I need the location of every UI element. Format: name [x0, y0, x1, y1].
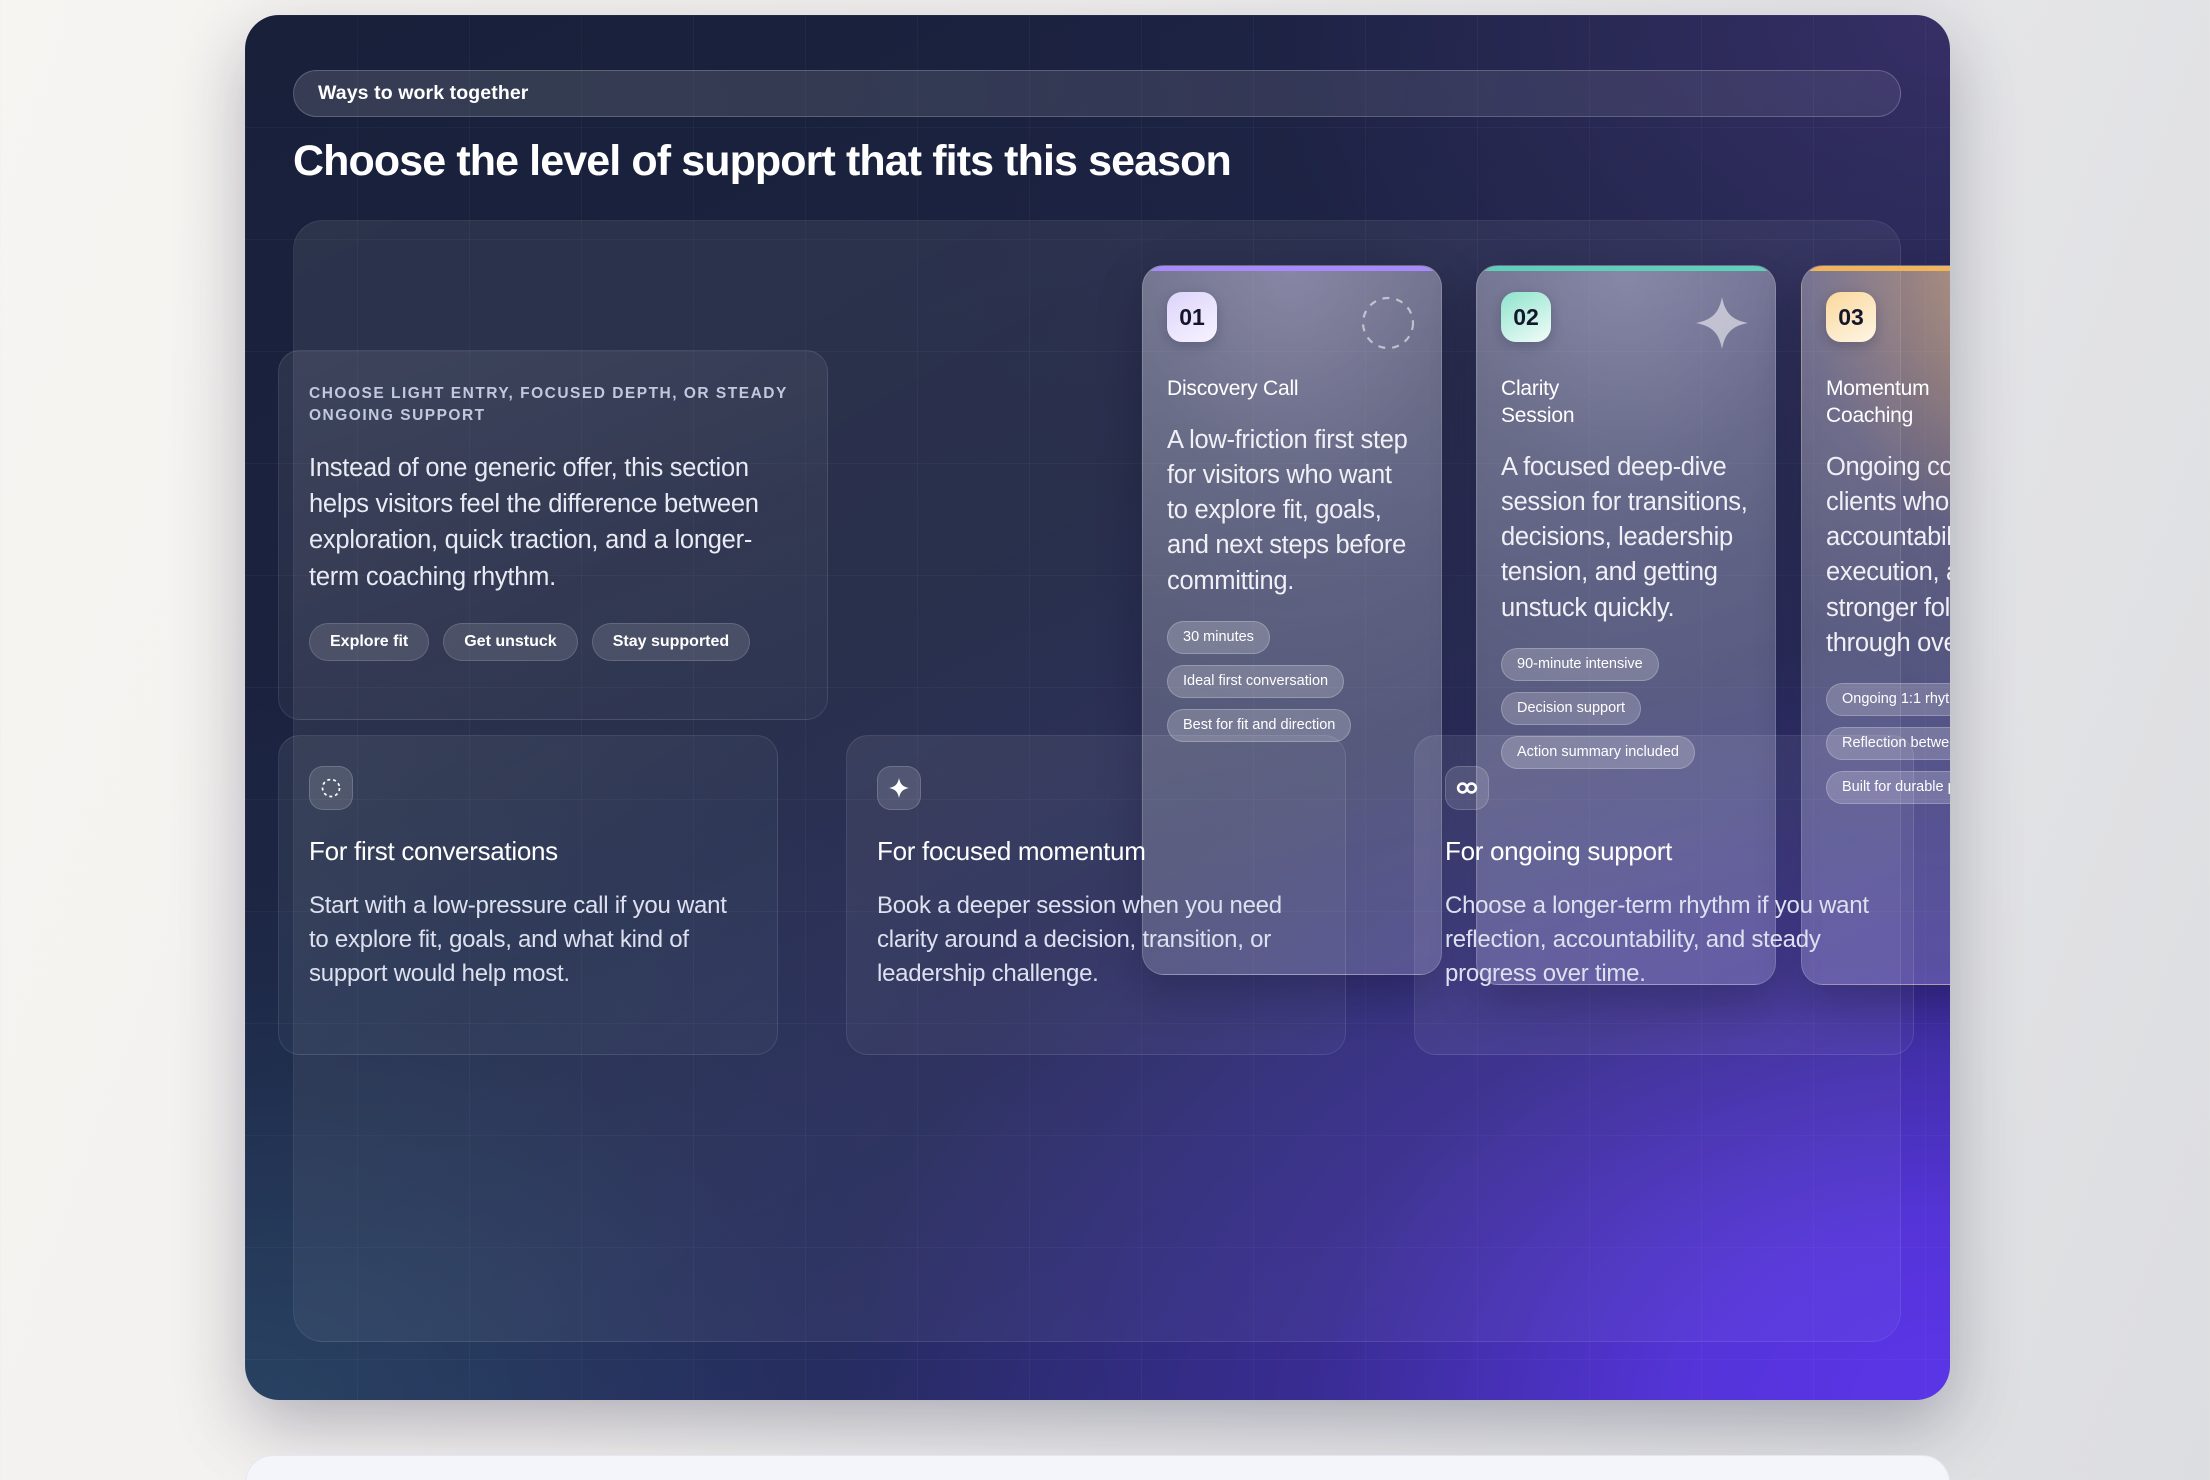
- tier-description: A low-friction first step for visitors w…: [1167, 423, 1417, 599]
- next-section-card: [245, 1455, 1950, 1480]
- tier-tag: Decision support: [1501, 692, 1641, 725]
- infinity-icon: [1455, 777, 1479, 799]
- note-icon-wrapper: [309, 766, 353, 810]
- tier-title: Discovery Call: [1167, 376, 1417, 403]
- sparkle-icon: [888, 777, 910, 799]
- note-card-focused-momentum: For focused momentum Book a deeper sessi…: [846, 735, 1346, 1055]
- tier-accent-bar: [1143, 266, 1441, 271]
- note-card-ongoing-support: For ongoing support Choose a longer-term…: [1414, 735, 1914, 1055]
- page-title: Choose the level of support that fits th…: [293, 137, 1231, 186]
- intro-kicker: Choose light entry, focused depth, or st…: [309, 383, 797, 428]
- chip-stay-supported[interactable]: Stay supported: [592, 623, 750, 661]
- sparkle-icon: [1693, 294, 1751, 352]
- note-body: Start with a low-pressure call if you wa…: [309, 889, 747, 991]
- tier-header: 03: [1826, 292, 1950, 352]
- note-card-first-conversations: For first conversations Start with a low…: [278, 735, 778, 1055]
- intro-body: Instead of one generic offer, this secti…: [309, 450, 797, 595]
- note-body: Choose a longer-term rhythm if you want …: [1445, 889, 1883, 991]
- section-eyebrow-label: Ways to work together: [318, 82, 529, 105]
- tier-accent-bar: [1802, 266, 1950, 271]
- dashed-circle-icon: [1359, 294, 1417, 352]
- tier-tag-list: 30 minutes Ideal first conversation Best…: [1167, 621, 1417, 742]
- tier-title: Clarity Session: [1501, 376, 1751, 430]
- tier-number-badge: 02: [1501, 292, 1551, 342]
- pricing-section-panel: Ways to work together Choose the level o…: [245, 15, 1950, 1400]
- tier-description: A focused deep-dive session for transiti…: [1501, 450, 1751, 626]
- tier-number-badge: 03: [1826, 292, 1876, 342]
- tier-accent-bar: [1477, 266, 1775, 271]
- tier-tag: 90-minute intensive: [1501, 648, 1659, 681]
- chip-explore-fit[interactable]: Explore fit: [309, 623, 429, 661]
- section-eyebrow-pill: Ways to work together: [293, 70, 1901, 117]
- tier-tag: Ongoing 1:1 rhythm: [1826, 683, 1950, 716]
- tier-tag: 30 minutes: [1167, 621, 1270, 654]
- tier-header: 01: [1167, 292, 1417, 352]
- tier-header: 02: [1501, 292, 1751, 352]
- intro-chip-list: Explore fit Get unstuck Stay supported: [309, 623, 797, 661]
- tier-tag: Ideal first conversation: [1167, 665, 1344, 698]
- tier-description: Ongoing coaching for clients who need ac…: [1826, 450, 1950, 661]
- intro-card: Choose light entry, focused depth, or st…: [278, 350, 828, 720]
- chip-get-unstuck[interactable]: Get unstuck: [443, 623, 577, 661]
- tier-title: Momentum Coaching: [1826, 376, 1950, 430]
- note-title: For ongoing support: [1445, 836, 1883, 867]
- note-body: Book a deeper session when you need clar…: [877, 889, 1315, 991]
- tier-number-badge: 01: [1167, 292, 1217, 342]
- note-title: For first conversations: [309, 836, 747, 867]
- note-icon-wrapper: [1445, 766, 1489, 810]
- dashed-circle-icon: [320, 777, 342, 799]
- note-icon-wrapper: [877, 766, 921, 810]
- note-title: For focused momentum: [877, 836, 1315, 867]
